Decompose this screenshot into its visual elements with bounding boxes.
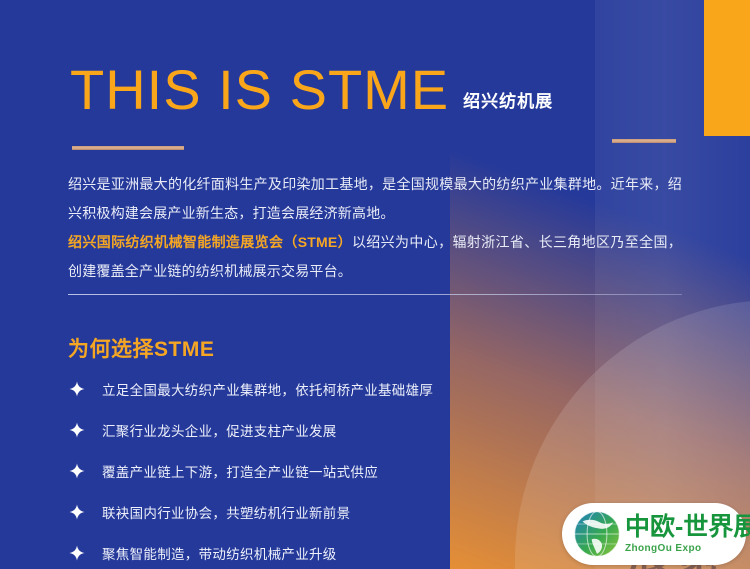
- title-row: THIS IS STME 绍兴纺机展: [70, 62, 553, 118]
- list-item: 汇聚行业龙头企业，促进支柱产业发展: [68, 416, 548, 444]
- section-divider: [68, 294, 682, 295]
- intro-paragraph: 绍兴是亚洲最大的化纤面料生产及印染加工基地，是全国规模最大的纺织产业集群地。近年…: [68, 170, 682, 286]
- orange-rectangle-decoration: [704, 0, 750, 136]
- globe-icon: [570, 507, 624, 561]
- expo-logo-badge: 中欧-世界展会 ZhongOu Expo: [562, 503, 746, 565]
- page-title: THIS IS STME: [70, 62, 449, 118]
- benefits-list: 立足全国最大纺织产业集群地，依托柯桥产业基础雄厚 汇聚行业龙头企业，促进支柱产业…: [68, 375, 548, 569]
- list-item-label: 立足全国最大纺织产业集群地，依托柯桥产业基础雄厚: [102, 379, 433, 399]
- list-item-label: 聚焦智能制造，带动纺织机械产业升级: [102, 543, 337, 563]
- page-subtitle: 绍兴纺机展: [463, 87, 553, 118]
- four-point-star-icon: [68, 544, 86, 562]
- list-item: 联袂国内行业协会，共塑纺机行业新前景: [68, 498, 548, 526]
- list-item-label: 覆盖产业链上下游，打造全产业链一站式供应: [102, 461, 378, 481]
- logo-name-en: ZhongOu Expo: [625, 544, 750, 554]
- list-item: 覆盖产业链上下游，打造全产业链一站式供应: [68, 457, 548, 485]
- section-title: 为何选择STME: [68, 333, 214, 363]
- four-point-star-icon: [68, 380, 86, 398]
- paragraph-lead: 绍兴是亚洲最大的化纤面料生产及印染加工基地，是全国规模最大的纺织产业集群地。近年…: [68, 176, 682, 221]
- tan-rule-right: [612, 139, 676, 143]
- list-item: 立足全国最大纺织产业集群地，依托柯桥产业基础雄厚: [68, 375, 548, 403]
- slide-root: 展览 THIS IS STME 绍兴纺机展 绍兴是亚洲最大的化纤面料生产及印染加…: [0, 0, 750, 569]
- four-point-star-icon: [68, 462, 86, 480]
- list-item-label: 汇聚行业龙头企业，促进支柱产业发展: [102, 420, 337, 440]
- list-item: 聚焦智能制造，带动纺织机械产业升级: [68, 539, 548, 567]
- logo-text-block: 中欧-世界展会 ZhongOu Expo: [625, 515, 750, 554]
- paragraph-highlight: 绍兴国际纺织机械智能制造展览会（STME）: [68, 234, 352, 250]
- logo-name-cn: 中欧-世界展会: [625, 515, 750, 540]
- list-item-label: 联袂国内行业协会，共塑纺机行业新前景: [102, 502, 350, 522]
- tan-rule-left: [72, 146, 184, 150]
- four-point-star-icon: [68, 421, 86, 439]
- four-point-star-icon: [68, 503, 86, 521]
